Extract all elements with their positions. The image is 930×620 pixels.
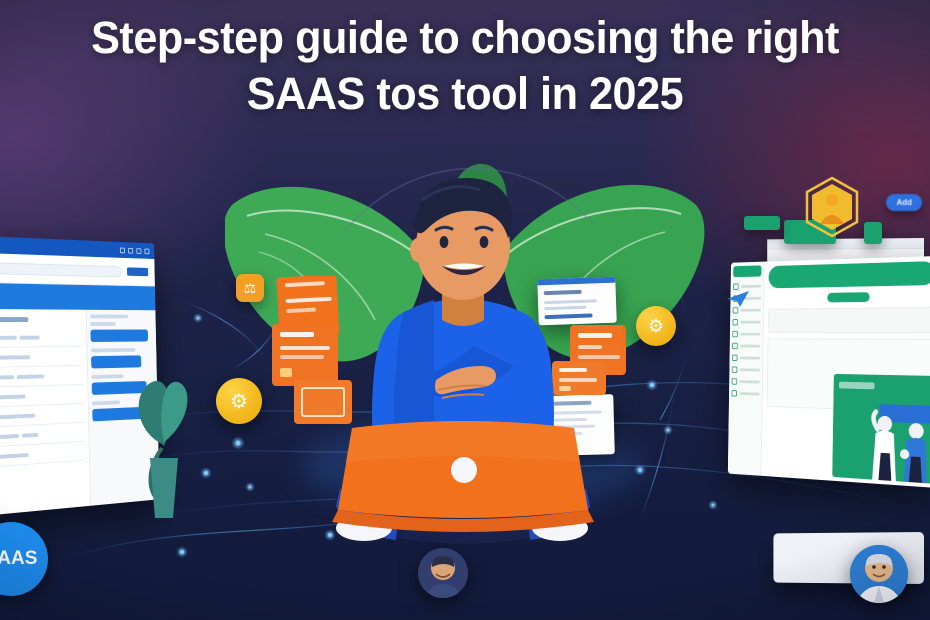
files-icon [732,355,738,361]
chat-bubble[interactable] [90,330,148,342]
sidebar-item-tasks[interactable] [732,319,760,326]
deals-icon [733,307,739,313]
people-illustration [832,374,930,484]
avatar-bottom-right[interactable] [850,545,908,603]
sidebar-item-dashboard[interactable] [733,283,761,290]
reports-icon [732,343,738,349]
gear-icon [731,390,737,397]
hero-banner-card[interactable] [768,261,930,288]
tasks-icon [732,319,738,325]
user-icon[interactable] [144,248,149,254]
left-dashboard-searchbar [0,253,155,287]
add-cta-button[interactable]: Add [886,194,922,211]
sidebar-item-files[interactable] [732,355,760,362]
dashboard-icon [733,283,739,290]
cart-icon[interactable] [128,247,133,253]
sidebar-item-reports[interactable] [732,343,760,350]
sidebar-item-settings[interactable] [731,390,759,397]
sidebar-logo [733,265,761,277]
left-dashboard-table [0,309,90,516]
stats-strip [768,307,930,333]
table-heading [0,317,29,322]
table-row[interactable] [0,347,84,368]
paper-plane-icon [726,290,750,308]
bell-icon[interactable] [120,247,125,253]
settings-icon[interactable] [136,248,141,254]
promo-green-card [832,374,930,484]
cta-pill-button[interactable] [827,292,870,302]
award-badge-icon[interactable] [802,176,862,240]
apps-icon [732,378,738,385]
settings-coin-icon[interactable]: ⚙ [636,306,676,346]
hero-banner: Add [0,0,930,620]
floating-green-card[interactable] [864,222,882,244]
avatar-bottom-center[interactable] [418,548,468,598]
primary-action-button[interactable] [127,267,148,276]
potted-plant [128,352,198,522]
table-row[interactable] [0,442,86,468]
floating-green-card[interactable] [744,216,780,230]
chat-icon [732,366,738,372]
share-nodes-icon[interactable]: ⚖ [236,274,264,302]
calendar-icon [732,331,738,337]
left-dashboard-banner [0,283,155,310]
sidebar-item-chat[interactable] [732,366,760,373]
man-with-laptop [318,170,608,570]
sidebar-item-apps[interactable] [732,378,760,385]
avatar-photo [850,545,908,603]
gears-icon[interactable]: ⚙ [216,378,262,424]
sidebar-item-calendar[interactable] [732,331,760,337]
avatar-photo [418,548,468,598]
search-input[interactable] [0,262,122,277]
table-row[interactable] [0,328,83,348]
right-dashboard-window[interactable] [728,256,930,488]
